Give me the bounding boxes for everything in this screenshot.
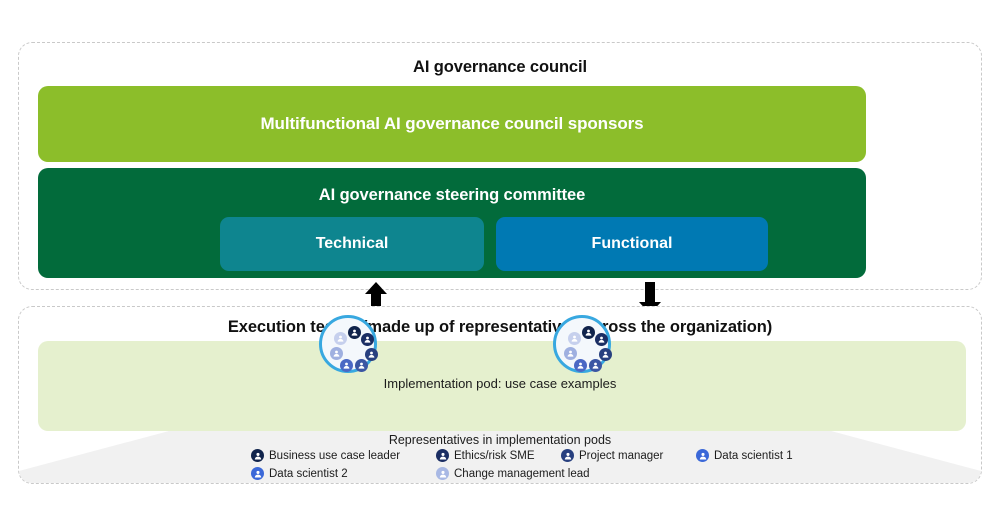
legend-item-label: Project manager: [579, 450, 663, 462]
execution-teams-title: Execution teams (made up of representati…: [19, 318, 981, 337]
steering-committee-bar[interactable]: AI governance steering committee Technic…: [38, 168, 866, 278]
person-icon: [436, 467, 449, 480]
pod-member-avatar: [365, 348, 378, 361]
pod-caption: Implementation pod: use case examples: [19, 376, 981, 391]
legend: Business use case leaderEthics/risk SMEP…: [251, 449, 771, 484]
pod-member-avatar: [330, 347, 343, 360]
pod-member-avatar: [340, 359, 353, 372]
steering-committee-label: AI governance steering committee: [38, 186, 866, 205]
execution-teams-panel: Execution teams (made up of representati…: [18, 306, 982, 484]
sponsors-label: Multifunctional AI governance council sp…: [261, 114, 644, 134]
legend-item: Project manager: [561, 449, 663, 462]
legend-item: Ethics/risk SME: [436, 449, 535, 462]
diagram-canvas: AI governance council Multifunctional AI…: [0, 0, 1000, 528]
pod-member-avatar: [361, 333, 374, 346]
legend-item: Business use case leader: [251, 449, 400, 462]
functional-subgroup-box[interactable]: Functional: [496, 217, 768, 271]
legend-item: Data scientist 1: [696, 449, 793, 462]
ai-governance-council-panel: AI governance council Multifunctional AI…: [18, 42, 982, 290]
legend-item-label: Data scientist 1: [714, 450, 793, 462]
person-icon: [696, 449, 709, 462]
legend-row: Business use case leaderEthics/risk SMEP…: [251, 449, 771, 467]
technical-subgroup-label: Technical: [316, 235, 389, 253]
legend-item: Change management lead: [436, 467, 590, 480]
legend-item-label: Business use case leader: [269, 450, 400, 462]
person-icon: [251, 449, 264, 462]
pod-member-avatar: [595, 333, 608, 346]
pod-member-avatar: [564, 347, 577, 360]
person-icon: [251, 467, 264, 480]
legend-row: Data scientist 2Change management lead: [251, 467, 771, 484]
legend-item-label: Data scientist 2: [269, 468, 348, 480]
legend-item: Data scientist 2: [251, 467, 348, 480]
page-title: AI governance council: [19, 58, 981, 77]
pod-member-avatar: [582, 326, 595, 339]
sponsors-bar[interactable]: Multifunctional AI governance council sp…: [38, 86, 866, 162]
pod-member-avatar: [334, 332, 347, 345]
person-icon: [561, 449, 574, 462]
legend-title: Representatives in implementation pods: [19, 433, 981, 447]
pod-member-avatar: [568, 332, 581, 345]
pod-member-avatar: [599, 348, 612, 361]
functional-subgroup-label: Functional: [592, 235, 673, 253]
implementation-pod-1[interactable]: [319, 315, 377, 373]
legend-item-label: Ethics/risk SME: [454, 450, 535, 462]
pod-member-avatar: [574, 359, 587, 372]
implementation-pod-2[interactable]: [553, 315, 611, 373]
technical-subgroup-box[interactable]: Technical: [220, 217, 484, 271]
legend-item-label: Change management lead: [454, 468, 590, 480]
pod-member-avatar: [348, 326, 361, 339]
person-icon: [436, 449, 449, 462]
